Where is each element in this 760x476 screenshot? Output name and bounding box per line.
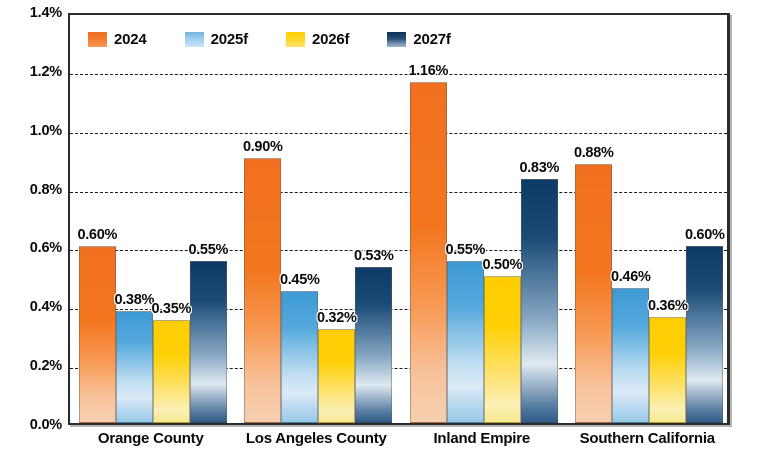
bar[interactable]: [575, 164, 612, 423]
bar-slot: 0.35%: [153, 15, 190, 423]
legend-swatch-icon: [88, 32, 107, 47]
x-axis-category-label: Inland Empire: [433, 430, 530, 447]
bar[interactable]: [116, 311, 153, 423]
bar[interactable]: [447, 261, 484, 423]
bar-slot: 0.32%: [318, 15, 355, 423]
bar-value-label: 0.45%: [280, 272, 320, 288]
bar-value-label: 0.55%: [188, 242, 228, 258]
plot-inner: 0.60%0.38%0.35%0.55%0.90%0.45%0.32%0.53%…: [70, 15, 727, 423]
bar-value-label: 0.53%: [354, 248, 394, 264]
bar-value-label: 0.32%: [317, 310, 357, 326]
bar-slot: 0.46%: [612, 15, 649, 423]
bar-slot: 0.45%: [281, 15, 318, 423]
x-axis-category-label: Orange County: [98, 430, 204, 447]
legend-label: 2026f: [312, 31, 349, 48]
bar-value-label: 0.50%: [482, 257, 522, 273]
bar[interactable]: [612, 288, 649, 423]
bar-group: 1.16%0.55%0.50%0.83%: [401, 15, 567, 423]
bar-slot: 0.83%: [521, 15, 558, 423]
bar-value-label: 0.90%: [243, 139, 283, 155]
bar-group: 0.60%0.38%0.35%0.55%: [70, 15, 236, 423]
bar[interactable]: [521, 179, 558, 423]
bar[interactable]: [649, 317, 686, 423]
bar-slot: 0.90%: [244, 15, 281, 423]
bar[interactable]: [484, 276, 521, 423]
plot-area: 0.60%0.38%0.35%0.55%0.90%0.45%0.32%0.53%…: [68, 13, 730, 425]
x-axis-category-labels: Orange CountyLos Angeles CountyInland Em…: [68, 430, 730, 470]
bar-value-label: 0.55%: [445, 242, 485, 258]
legend-entry-2027f[interactable]: 2027f: [387, 31, 450, 48]
chart-legend: 20242025f2026f2027f: [88, 31, 489, 48]
legend-entry-2026f[interactable]: 2026f: [286, 31, 349, 48]
y-axis-tick-label: 0.2%: [0, 358, 62, 374]
bar[interactable]: [79, 246, 116, 423]
bar[interactable]: [281, 291, 318, 423]
bar-value-label: 0.46%: [611, 269, 651, 285]
y-axis-tick-label: 0.8%: [0, 182, 62, 198]
bar-value-label: 1.16%: [408, 63, 448, 79]
x-axis-category-label: Southern California: [580, 430, 715, 447]
legend-swatch-icon: [387, 32, 406, 47]
bar-group: 0.88%0.46%0.36%0.60%: [567, 15, 728, 423]
legend-label: 2027f: [413, 31, 450, 48]
bar-value-label: 0.36%: [648, 298, 688, 314]
bar[interactable]: [410, 82, 447, 423]
y-axis-tick-label: 0.6%: [0, 240, 62, 256]
bar-slot: 1.16%: [410, 15, 447, 423]
bar-slot: 0.38%: [116, 15, 153, 423]
bar[interactable]: [153, 320, 190, 423]
bar-slot: 0.60%: [79, 15, 116, 423]
legend-label: 2024: [114, 31, 147, 48]
bar-slot: 0.55%: [190, 15, 227, 423]
bar-value-label: 0.60%: [77, 227, 117, 243]
bar[interactable]: [318, 329, 355, 423]
legend-entry-2025f[interactable]: 2025f: [185, 31, 248, 48]
y-axis-tick-label: 1.4%: [0, 5, 62, 21]
bar-group: 0.90%0.45%0.32%0.53%: [236, 15, 402, 423]
x-axis-category-label: Los Angeles County: [246, 430, 387, 447]
y-axis-tick-label: 0.4%: [0, 299, 62, 315]
bar-slot: 0.50%: [484, 15, 521, 423]
bar-value-label: 0.38%: [114, 292, 154, 308]
y-axis: 1.4%1.2%1.0%0.8%0.6%0.4%0.2%0.0%: [0, 13, 62, 425]
y-axis-tick-label: 1.2%: [0, 64, 62, 80]
bar-slot: 0.55%: [447, 15, 484, 423]
legend-entry-2024[interactable]: 2024: [88, 31, 147, 48]
bar-slot: 0.88%: [575, 15, 612, 423]
bar[interactable]: [244, 158, 281, 423]
y-axis-tick-label: 1.0%: [0, 123, 62, 139]
bar-slot: 0.53%: [355, 15, 392, 423]
y-axis-tick-label: 0.0%: [0, 417, 62, 433]
legend-swatch-icon: [286, 32, 305, 47]
legend-label: 2025f: [211, 31, 248, 48]
bar-value-label: 0.83%: [519, 160, 559, 176]
bar-slot: 0.36%: [649, 15, 686, 423]
bar-value-label: 0.60%: [685, 227, 725, 243]
bar-slot: 0.60%: [686, 15, 723, 423]
bar[interactable]: [686, 246, 723, 423]
bar[interactable]: [355, 267, 392, 423]
legend-swatch-icon: [185, 32, 204, 47]
bar-chart: 1.4%1.2%1.0%0.8%0.6%0.4%0.2%0.0% 0.60%0.…: [0, 0, 760, 476]
bar-value-label: 0.88%: [574, 145, 614, 161]
bar-value-label: 0.35%: [151, 301, 191, 317]
bar[interactable]: [190, 261, 227, 423]
